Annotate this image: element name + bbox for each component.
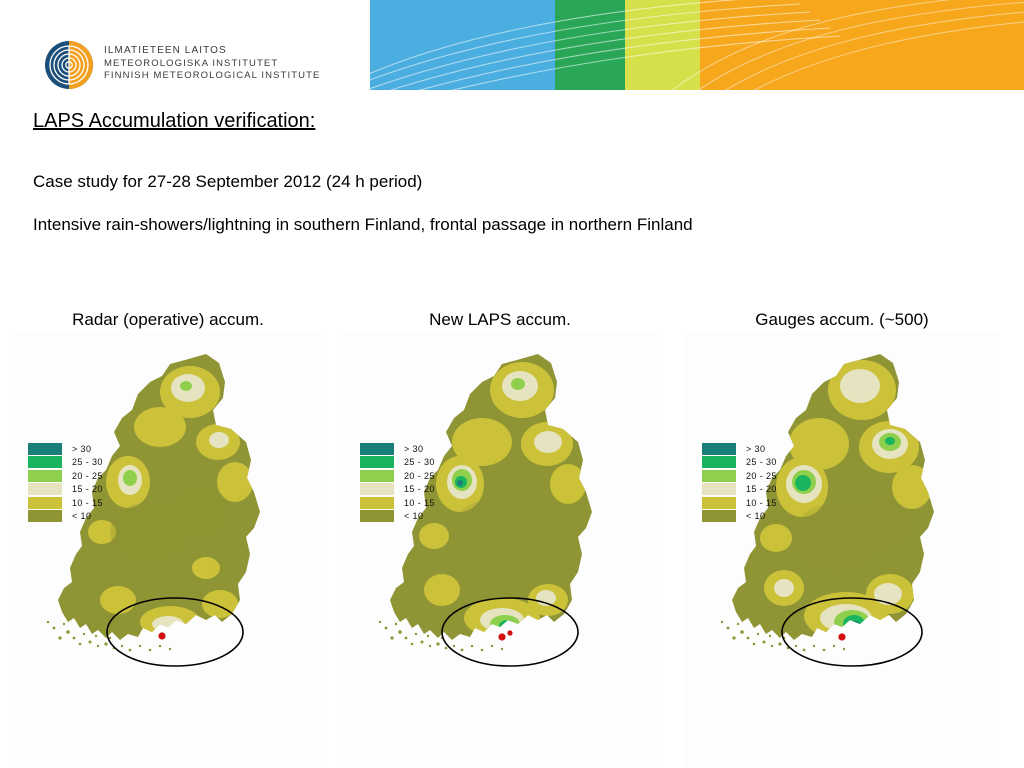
legend-label: 15 - 20 xyxy=(72,484,103,494)
legend-row: 25 - 30 xyxy=(28,456,103,470)
logo-text-fi: ILMATIETEEN LAITOS xyxy=(104,44,320,58)
legend-row: > 30 xyxy=(360,442,435,456)
logo-text-en: FINNISH METEOROLOGICAL INSTITUTE xyxy=(104,70,320,83)
case-study-line: Case study for 27-28 September 2012 (24 … xyxy=(33,172,422,192)
legend-label: 10 - 15 xyxy=(746,498,777,508)
legend-swatch xyxy=(702,470,736,482)
legend-label: < 10 xyxy=(746,511,765,521)
legend-swatch xyxy=(360,456,394,468)
legend-gauges: > 30 25 - 30 20 - 25 15 - 20 10 - 15 < 1… xyxy=(702,442,777,523)
finland-map-radar xyxy=(10,332,326,768)
fmi-spiral-logo-icon xyxy=(44,40,94,90)
legend-swatch xyxy=(28,456,62,468)
legend-label: < 10 xyxy=(72,511,91,521)
legend-row: 20 - 25 xyxy=(702,469,777,483)
panel-caption-radar: Radar (operative) accum. xyxy=(10,310,326,330)
legend-swatch xyxy=(28,483,62,495)
legend-swatch xyxy=(28,443,62,455)
map-panel-laps: > 30 25 - 30 20 - 25 15 - 20 10 - 15 < 1… xyxy=(342,332,658,768)
panel-caption-gauges: Gauges accum. (~500) xyxy=(684,310,1000,330)
description-line: Intensive rain-showers/lightning in sout… xyxy=(33,215,693,235)
legend-row: < 10 xyxy=(28,510,103,524)
legend-swatch xyxy=(702,497,736,509)
panel-caption-laps: New LAPS accum. xyxy=(342,310,658,330)
legend-label: > 30 xyxy=(72,444,91,454)
legend-label: 25 - 30 xyxy=(72,457,103,467)
legend-label: 10 - 15 xyxy=(72,498,103,508)
fmi-logo: ILMATIETEEN LAITOS METEOROLOGISKA INSTIT… xyxy=(44,40,364,92)
legend-label: 15 - 20 xyxy=(404,484,435,494)
legend-row: 10 - 15 xyxy=(702,496,777,510)
station-marker xyxy=(498,633,505,640)
legend-row: > 30 xyxy=(28,442,103,456)
legend-row: 15 - 20 xyxy=(28,483,103,497)
legend-label: > 30 xyxy=(746,444,765,454)
legend-label: 25 - 30 xyxy=(746,457,777,467)
map-panel-radar: > 30 25 - 30 20 - 25 15 - 20 10 - 15 < 1… xyxy=(10,332,326,768)
legend-swatch xyxy=(360,510,394,522)
legend-swatch xyxy=(360,483,394,495)
banner-arc-decoration xyxy=(370,0,1024,90)
header-banner xyxy=(370,0,1024,90)
legend-swatch xyxy=(702,510,736,522)
legend-swatch xyxy=(28,470,62,482)
finland-map-laps xyxy=(342,332,658,768)
legend-swatch xyxy=(702,443,736,455)
legend-row: 25 - 30 xyxy=(360,456,435,470)
legend-swatch xyxy=(28,510,62,522)
legend-laps: > 30 25 - 30 20 - 25 15 - 20 10 - 15 < 1… xyxy=(360,442,435,523)
legend-label: 20 - 25 xyxy=(72,471,103,481)
station-marker xyxy=(838,633,845,640)
legend-label: 15 - 20 xyxy=(746,484,777,494)
legend-row: 15 - 20 xyxy=(702,483,777,497)
legend-label: 20 - 25 xyxy=(404,471,435,481)
legend-row: 10 - 15 xyxy=(360,496,435,510)
legend-row: 15 - 20 xyxy=(360,483,435,497)
legend-label: 25 - 30 xyxy=(404,457,435,467)
legend-label: 10 - 15 xyxy=(404,498,435,508)
legend-row: 20 - 25 xyxy=(360,469,435,483)
legend-label: 20 - 25 xyxy=(746,471,777,481)
legend-swatch xyxy=(702,483,736,495)
legend-row: 25 - 30 xyxy=(702,456,777,470)
legend-swatch xyxy=(360,443,394,455)
station-marker xyxy=(158,632,165,639)
legend-row: 10 - 15 xyxy=(28,496,103,510)
legend-swatch xyxy=(360,497,394,509)
legend-row: 20 - 25 xyxy=(28,469,103,483)
legend-row: > 30 xyxy=(702,442,777,456)
legend-row: < 10 xyxy=(702,510,777,524)
station-marker xyxy=(507,630,512,635)
legend-swatch xyxy=(702,456,736,468)
legend-label: < 10 xyxy=(404,511,423,521)
legend-radar: > 30 25 - 30 20 - 25 15 - 20 10 - 15 < 1… xyxy=(28,442,103,523)
legend-swatch xyxy=(28,497,62,509)
page-title: LAPS Accumulation verification: xyxy=(33,110,315,133)
logo-text-sv: METEOROLOGISKA INSTITUTET xyxy=(104,58,320,71)
legend-swatch xyxy=(360,470,394,482)
map-panel-gauges: > 30 25 - 30 20 - 25 15 - 20 10 - 15 < 1… xyxy=(684,332,1000,768)
finland-map-gauges xyxy=(684,332,1000,768)
legend-label: > 30 xyxy=(404,444,423,454)
legend-row: < 10 xyxy=(360,510,435,524)
